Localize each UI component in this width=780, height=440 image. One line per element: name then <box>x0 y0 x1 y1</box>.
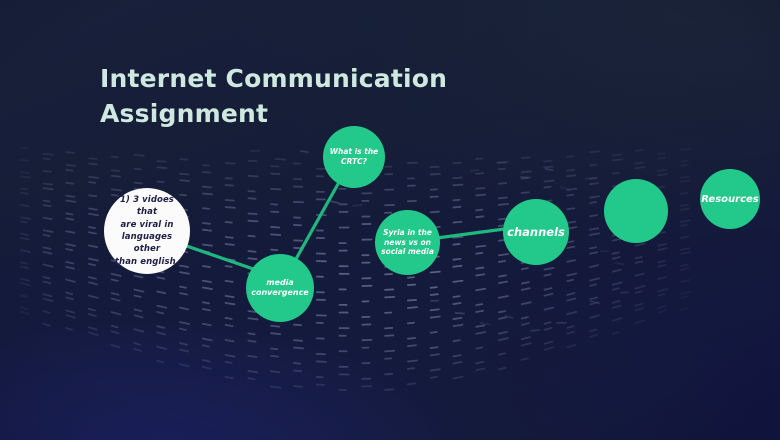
node-blank[interactable] <box>604 179 668 243</box>
node-videos[interactable]: 1) 3 vidoes that are viral in languages … <box>104 188 190 274</box>
node-videos-label: 1) 3 vidoes that are viral in languages … <box>104 194 190 268</box>
node-media-convergence[interactable]: media convergence <box>246 254 314 322</box>
node-media-convergence-label: media convergence <box>245 278 315 299</box>
node-syria[interactable]: Syria in the news vs on social media <box>375 210 440 275</box>
node-crtc-label: What is the CRTC? <box>324 147 385 167</box>
node-resources[interactable]: Resources <box>700 169 760 229</box>
node-channels-label: channels <box>501 225 571 240</box>
node-channels[interactable]: channels <box>503 199 569 265</box>
node-resources-label: Resources <box>695 193 765 206</box>
link-media-crtc <box>296 184 338 259</box>
node-crtc[interactable]: What is the CRTC? <box>323 126 385 188</box>
page-title: Internet Communication Assignment <box>100 62 520 131</box>
node-syria-label: Syria in the news vs on social media <box>375 228 440 257</box>
presentation-canvas[interactable]: Internet Communication Assignment 1) 3 v… <box>0 0 780 440</box>
link-videos-media <box>178 243 262 272</box>
